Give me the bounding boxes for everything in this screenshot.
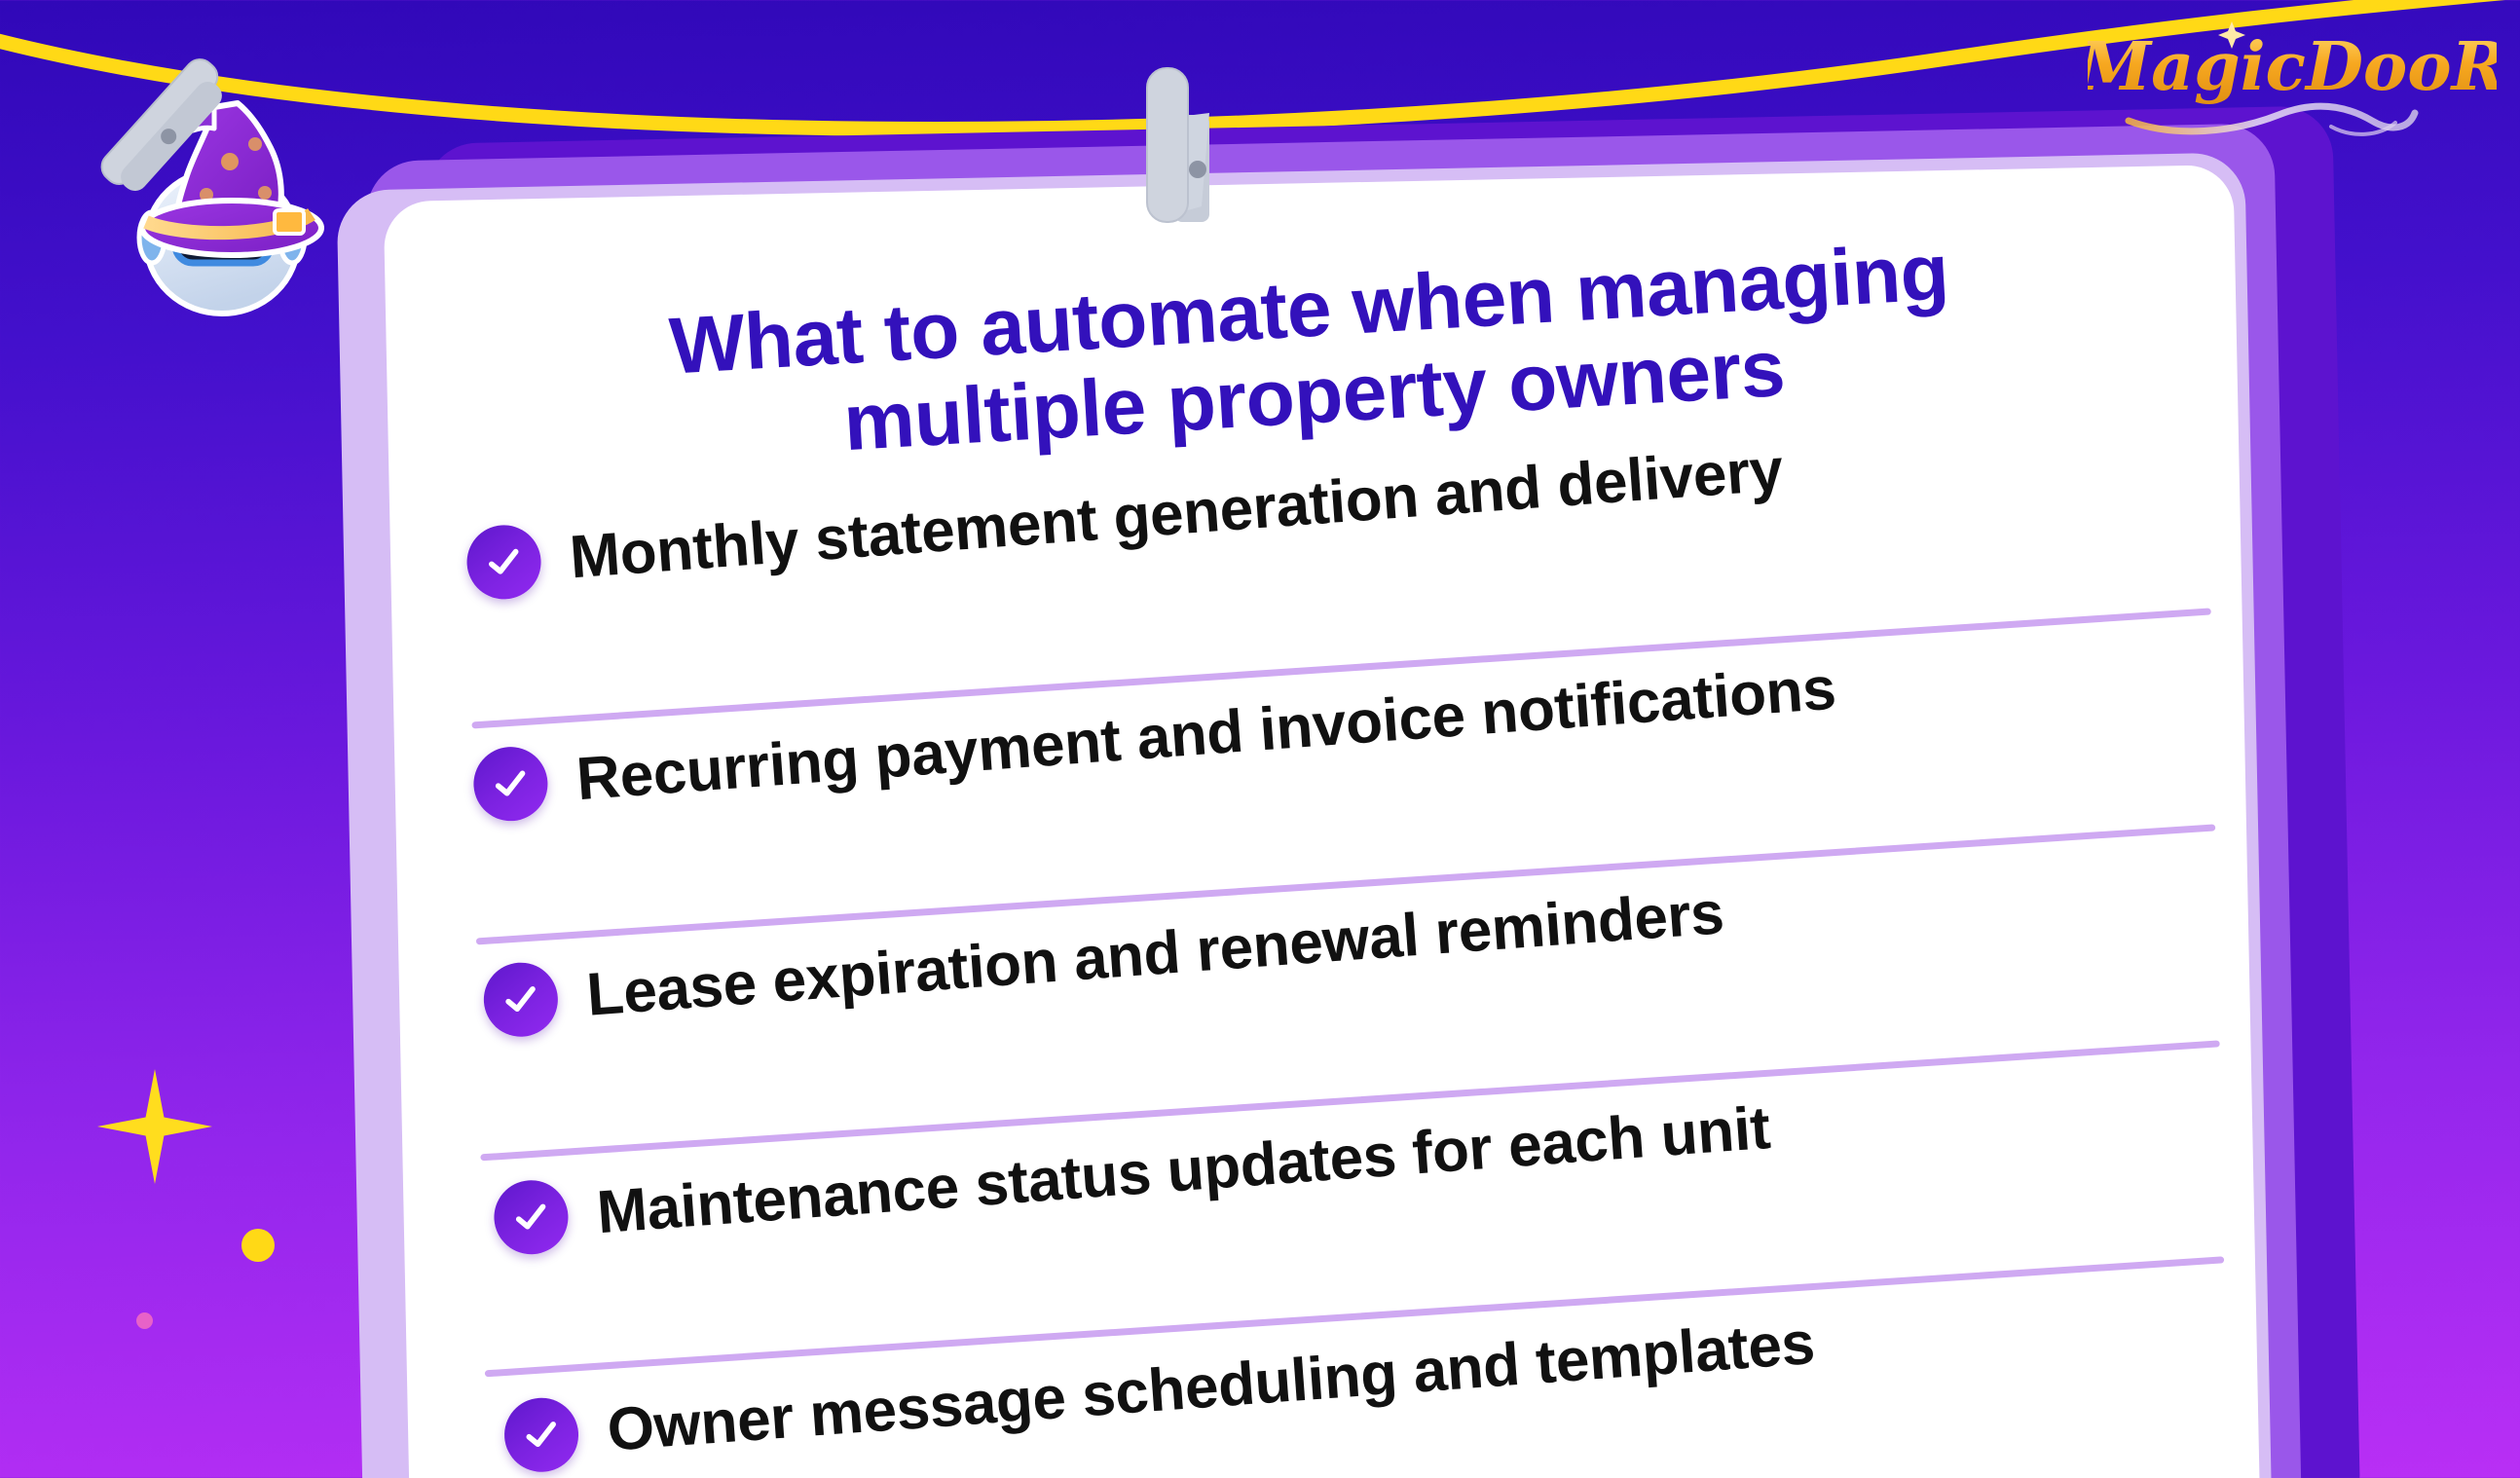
check-circle-icon <box>471 745 550 824</box>
info-card: What to automate when managing multiple … <box>384 165 2262 1478</box>
check-circle-icon <box>501 1395 580 1474</box>
logo-wordmark: MagicDooR <box>2088 28 2497 106</box>
clothespin-left-icon <box>86 49 232 219</box>
sparkle-star-icon <box>97 1069 212 1184</box>
check-circle-icon <box>492 1178 571 1257</box>
automation-checklist: Monthly statement generation and deliver… <box>458 487 2193 1478</box>
info-card-stack: What to automate when managing multiple … <box>360 136 2308 1478</box>
magicdoor-logo: MagicDooR <box>2088 6 2497 152</box>
decor-dot-yellow <box>241 1229 275 1262</box>
check-circle-icon <box>464 523 543 602</box>
decor-dot-pink <box>136 1312 153 1329</box>
clothespin-center-icon <box>1137 60 1225 260</box>
check-circle-icon <box>481 960 560 1039</box>
